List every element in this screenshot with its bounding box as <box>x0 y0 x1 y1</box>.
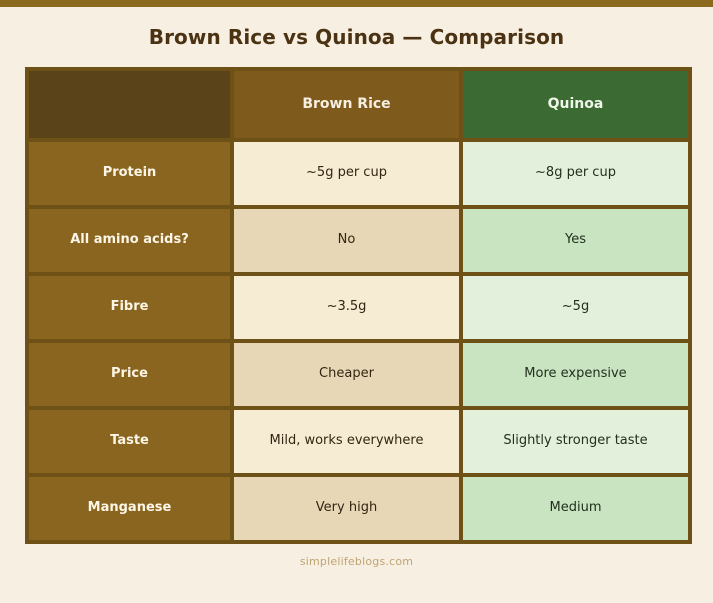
cell-all-amino-acids-brown-rice: No <box>232 207 461 274</box>
row-label-protein: Protein <box>27 140 232 207</box>
cell-protein-brown-rice: ~5g per cup <box>232 140 461 207</box>
table-row: Protein ~5g per cup ~8g per cup <box>27 140 690 207</box>
top-accent-bar <box>0 0 713 7</box>
comparison-table: Brown Rice Quinoa Protein ~5g per cup ~8… <box>25 67 692 544</box>
page-title: Brown Rice vs Quinoa — Comparison <box>149 25 565 49</box>
comparison-table-container: Brown Rice Quinoa Protein ~5g per cup ~8… <box>0 67 713 544</box>
header-cell-corner <box>27 69 232 140</box>
cell-protein-quinoa: ~8g per cup <box>461 140 690 207</box>
cell-fibre-quinoa: ~5g <box>461 274 690 341</box>
footer: simplelifeblogs.com <box>0 544 713 603</box>
table-body: Protein ~5g per cup ~8g per cup All amin… <box>27 140 690 542</box>
cell-manganese-brown-rice: Very high <box>232 475 461 542</box>
row-label-taste: Taste <box>27 408 232 475</box>
table-row: Price Cheaper More expensive <box>27 341 690 408</box>
table-row: Taste Mild, works everywhere Slightly st… <box>27 408 690 475</box>
row-label-fibre: Fibre <box>27 274 232 341</box>
cell-taste-quinoa: Slightly stronger taste <box>461 408 690 475</box>
table-header: Brown Rice Quinoa <box>27 69 690 140</box>
comparison-infographic: Brown Rice vs Quinoa — Comparison Brown … <box>0 0 713 603</box>
row-label-price: Price <box>27 341 232 408</box>
cell-price-quinoa: More expensive <box>461 341 690 408</box>
table-row: All amino acids? No Yes <box>27 207 690 274</box>
cell-taste-brown-rice: Mild, works everywhere <box>232 408 461 475</box>
title-container: Brown Rice vs Quinoa — Comparison <box>0 7 713 67</box>
table-row: Manganese Very high Medium <box>27 475 690 542</box>
source-attribution: simplelifeblogs.com <box>300 555 413 568</box>
header-cell-quinoa: Quinoa <box>461 69 690 140</box>
cell-price-brown-rice: Cheaper <box>232 341 461 408</box>
header-cell-brown-rice: Brown Rice <box>232 69 461 140</box>
cell-manganese-quinoa: Medium <box>461 475 690 542</box>
cell-all-amino-acids-quinoa: Yes <box>461 207 690 274</box>
row-label-all-amino-acids: All amino acids? <box>27 207 232 274</box>
table-row: Fibre ~3.5g ~5g <box>27 274 690 341</box>
table-header-row: Brown Rice Quinoa <box>27 69 690 140</box>
cell-fibre-brown-rice: ~3.5g <box>232 274 461 341</box>
row-label-manganese: Manganese <box>27 475 232 542</box>
